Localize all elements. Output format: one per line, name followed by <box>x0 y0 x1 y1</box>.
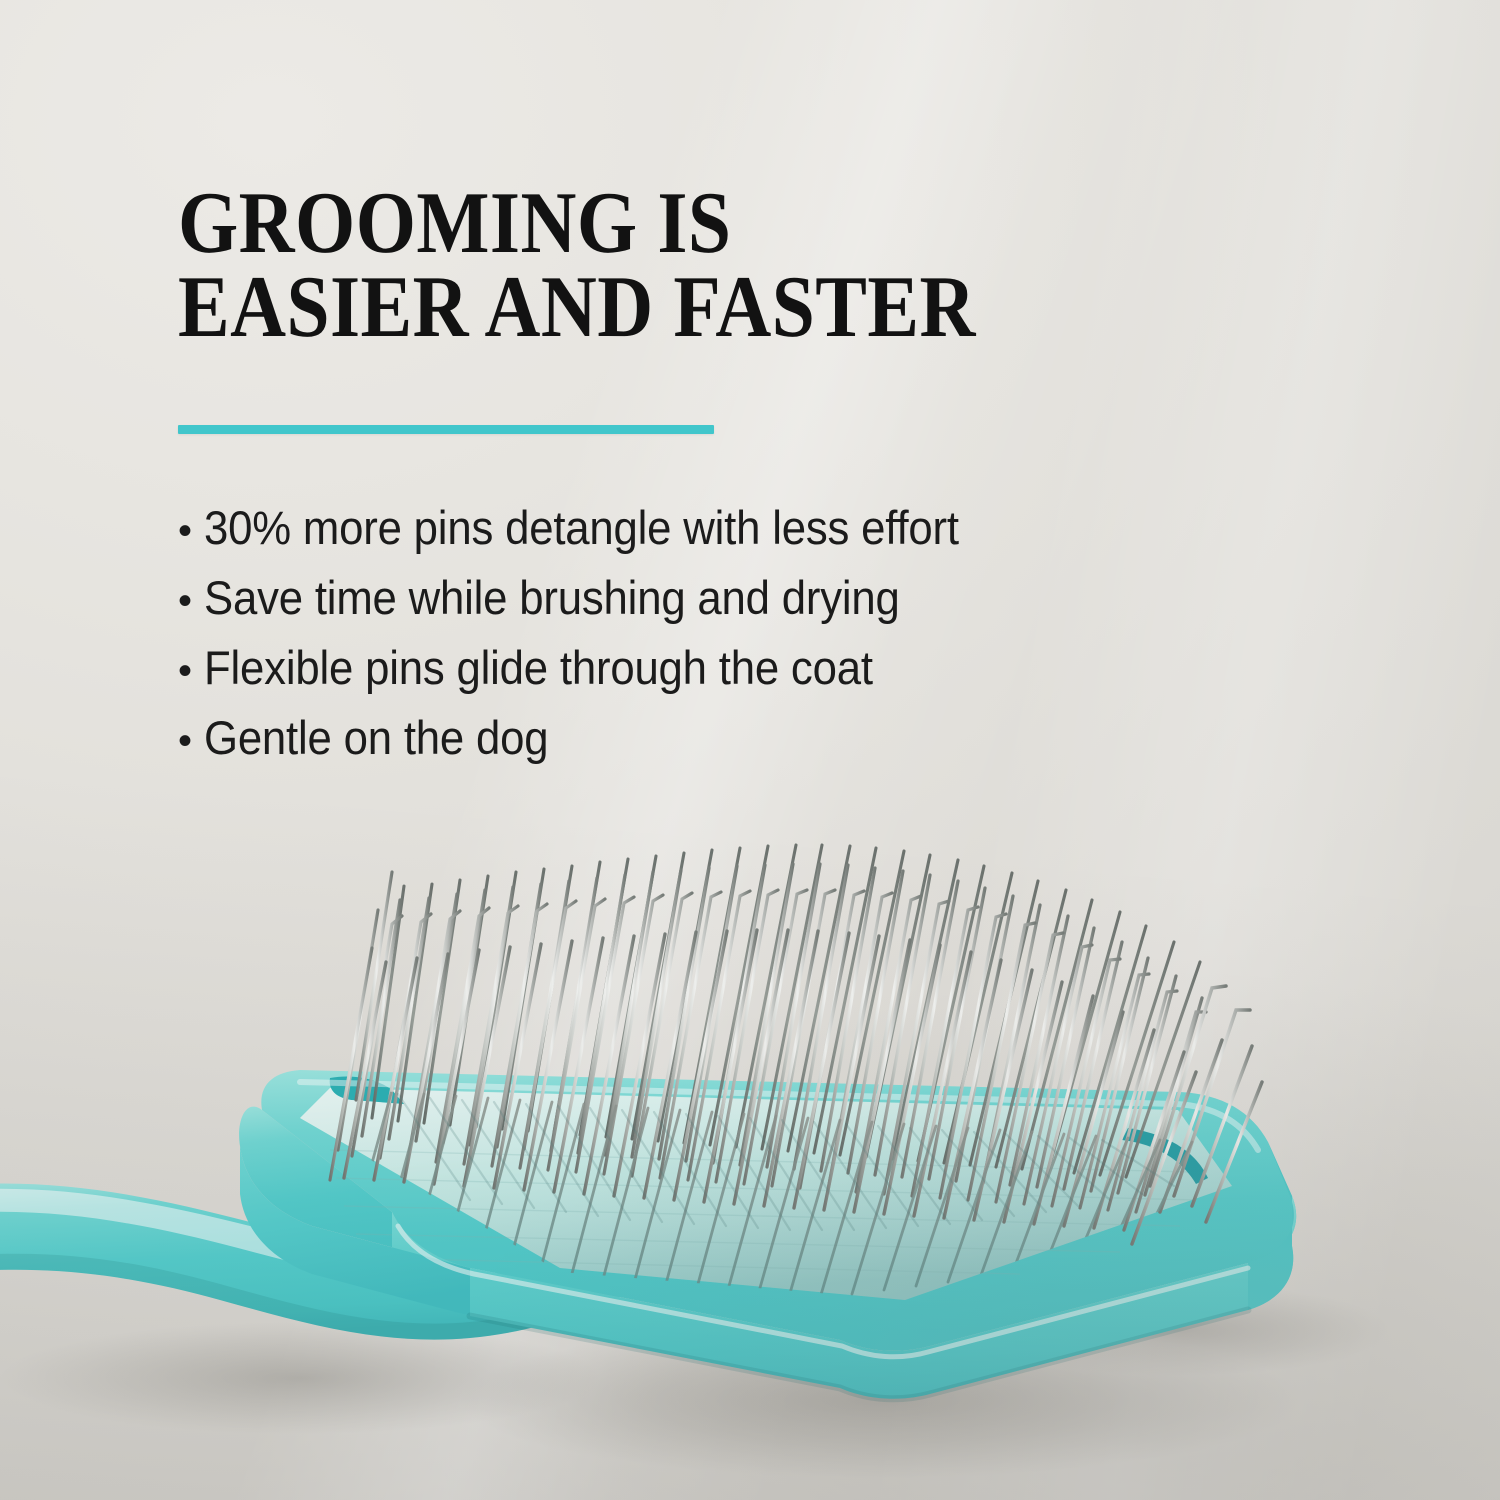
list-item: • Flexible pins glide through the coat <box>178 644 1016 714</box>
list-item-label: 30% more pins detangle with less effort <box>204 504 959 551</box>
list-item: • Gentle on the dog <box>178 714 1016 784</box>
product-feature-panel: GROOMING IS EASIER AND FASTER • 30% more… <box>0 0 1500 1500</box>
list-item: • Save time while brushing and drying <box>178 574 1016 644</box>
bullet-marker-icon: • <box>178 581 204 621</box>
list-item-label: Gentle on the dog <box>204 714 548 761</box>
bullet-marker-icon: • <box>178 511 204 551</box>
bullet-marker-icon: • <box>178 651 204 691</box>
list-item-label: Flexible pins glide through the coat <box>204 644 873 691</box>
bullet-marker-icon: • <box>178 721 204 761</box>
list-item-label: Save time while brushing and drying <box>204 574 900 621</box>
list-item: • 30% more pins detangle with less effor… <box>178 504 1016 574</box>
marketing-copy-block: GROOMING IS EASIER AND FASTER • 30% more… <box>178 182 1238 351</box>
accent-rule <box>178 425 714 434</box>
page-title: GROOMING IS EASIER AND FASTER <box>178 182 1111 351</box>
feature-list: • 30% more pins detangle with less effor… <box>178 504 1016 784</box>
